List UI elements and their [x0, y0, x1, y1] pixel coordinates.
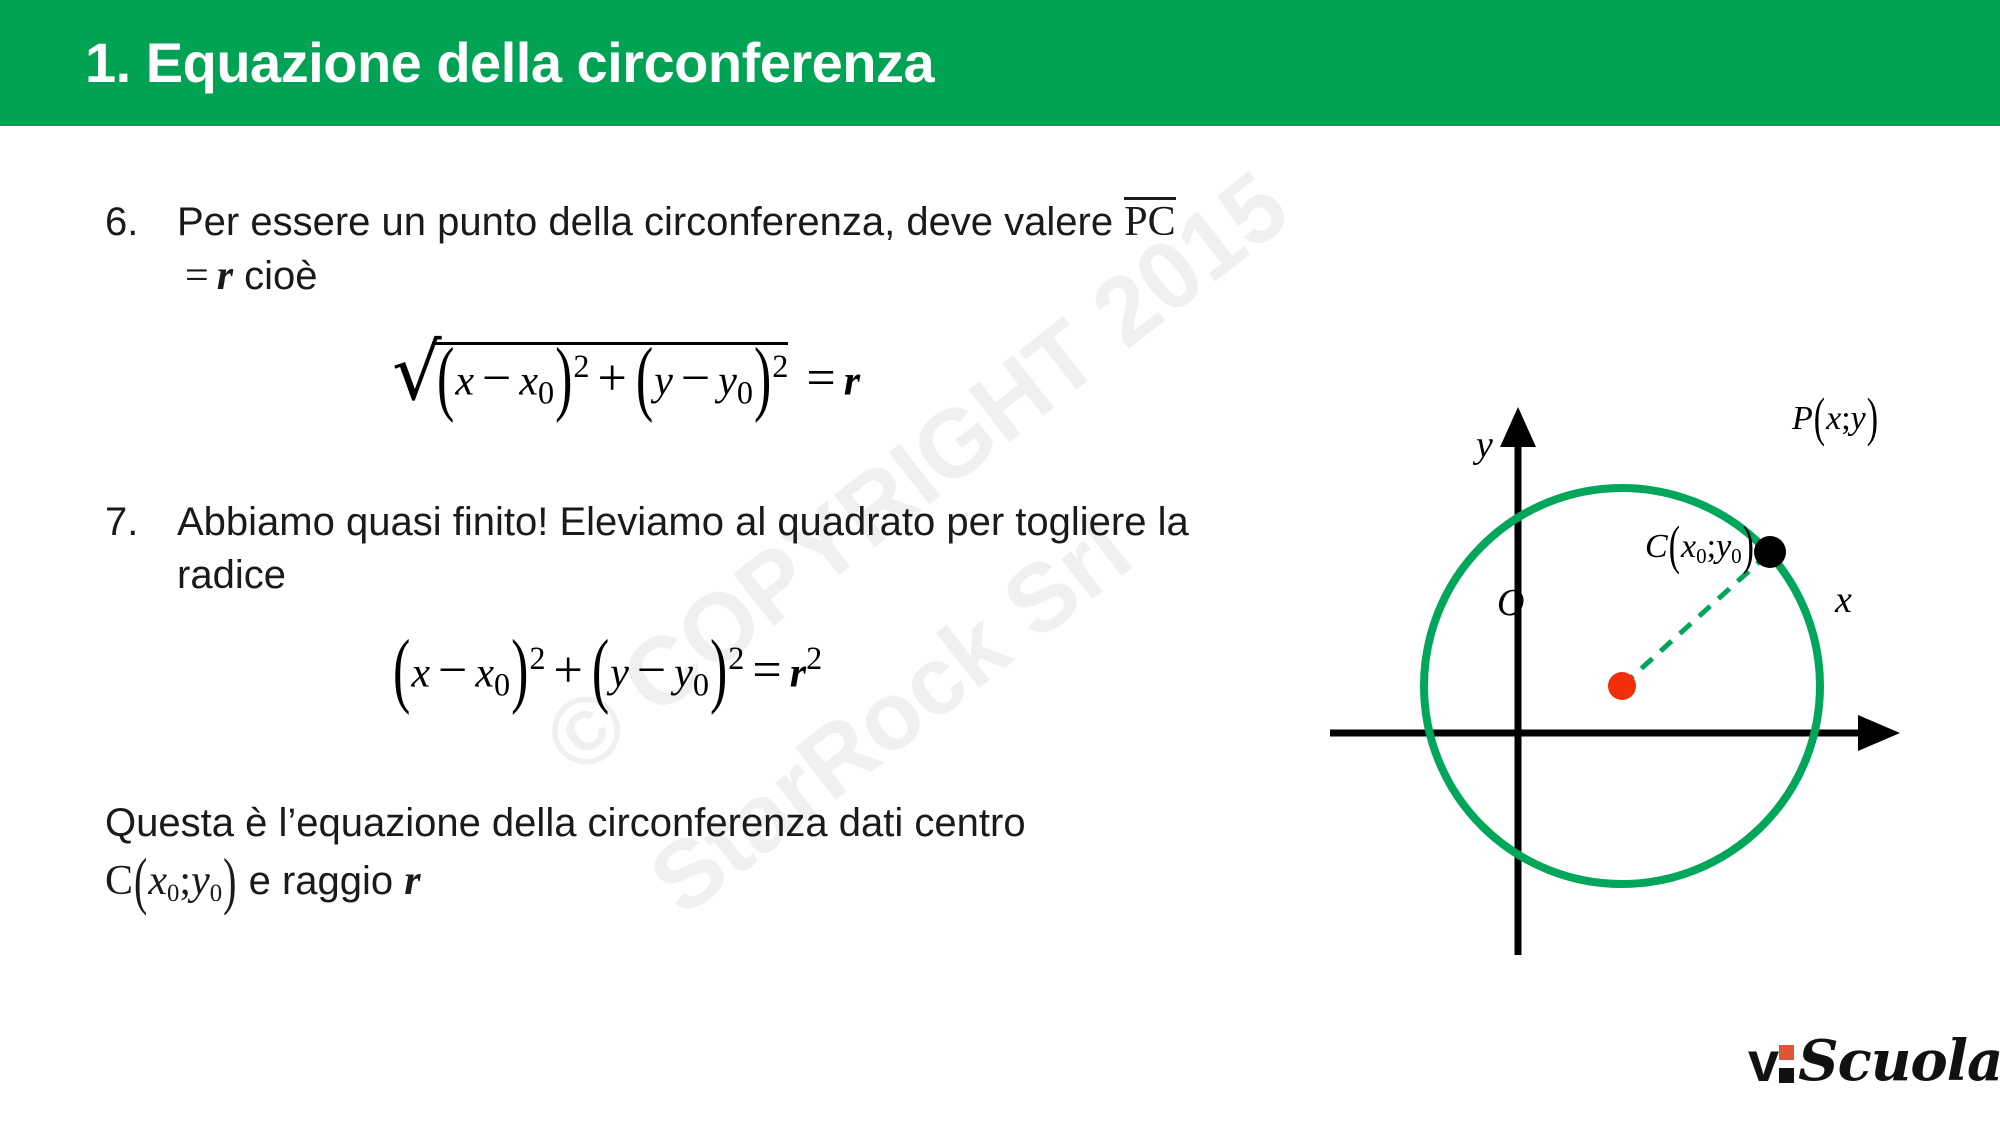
f2-minus: −	[430, 642, 475, 699]
closing-close-paren: )	[223, 838, 236, 923]
square-root: √ (x−x0)2+(y−y0)2	[392, 340, 788, 412]
f1-x0-sub: 0	[538, 375, 554, 411]
closing-line-2: C(x0;y0) e raggio r	[105, 854, 1305, 911]
f1-exp-2: 2	[772, 348, 788, 384]
radius-symbol: r	[217, 253, 233, 299]
logo-wordmark: Scuola	[1798, 1028, 2000, 1094]
f1-y0-sub: 0	[737, 375, 753, 411]
f1-minus-2: −	[673, 350, 718, 407]
slide: 1. Equazione della circonferenza © COPYR…	[0, 0, 2000, 1125]
f2-r: r	[790, 651, 806, 697]
list-item-6-number: 6.	[105, 196, 177, 305]
closing-center-label: C	[105, 858, 133, 904]
logo-colon-top-square	[1779, 1045, 1794, 1060]
formula-circle-equation: (x−x0)2+(y−y0)2=r2	[392, 640, 822, 704]
f2-r-exp: 2	[806, 640, 822, 676]
list-item-6: 6. Per essere un punto della circonferen…	[105, 196, 1185, 305]
list-item-6-text-part2: cioè	[233, 254, 318, 298]
y-axis-label: y	[1476, 423, 1493, 467]
y-axis-arrowhead-icon	[1500, 407, 1536, 447]
logo-v-mark: v	[1748, 1029, 1777, 1094]
f1-plus: +	[590, 350, 635, 407]
f2-x0-sub: 0	[494, 667, 510, 703]
page-title: 1. Equazione della circonferenza	[85, 30, 934, 95]
closing-radius-symbol: r	[404, 858, 420, 904]
origin-label: O	[1497, 581, 1524, 625]
list-item-7: 7. Abbiamo quasi finito! Eleviamo al qua…	[105, 496, 1245, 602]
f2-y0-sub: 0	[693, 667, 709, 703]
closing-center-x-sub: 0	[167, 880, 179, 907]
closing-center-x: x	[148, 858, 167, 904]
f2-y: y	[610, 651, 629, 697]
closing-paragraph: Questa è l’equazione della circonferenza…	[105, 797, 1305, 911]
closing-open-paren: (	[134, 838, 147, 923]
list-item-6-text: Per essere un punto della circonferenza,…	[177, 196, 1185, 305]
open-paren-2: (	[636, 331, 653, 425]
formula-distance-equals-r: √ (x−x0)2+(y−y0)2 =r	[392, 340, 860, 412]
segment-pc: PC	[1124, 197, 1175, 243]
f1-y: y	[654, 359, 673, 405]
f2-plus: +	[546, 642, 591, 699]
open-paren: (	[437, 331, 454, 425]
logo-colon-bottom-square	[1779, 1068, 1794, 1083]
list-item-7-text: Abbiamo quasi finito! Eleviamo al quadra…	[177, 496, 1245, 602]
f2-y0: y	[674, 651, 693, 697]
closing-center-y-sub: 0	[210, 880, 222, 907]
f1-r: r	[844, 359, 860, 405]
x-axis-arrowhead-icon	[1858, 715, 1900, 751]
x-axis-label: x	[1835, 578, 1852, 622]
logo-colon-icon	[1779, 1039, 1794, 1083]
equals-sign: =	[177, 253, 217, 299]
vinculum	[432, 342, 788, 345]
f2-x0: x	[475, 651, 494, 697]
closing-tail: e raggio	[237, 859, 404, 903]
closing-line-1: Questa è l’equazione della circonferenza…	[105, 797, 1305, 850]
list-item-6-text-part1: Per essere un punto della circonferenza,…	[177, 200, 1124, 244]
list-item-7-number: 7.	[105, 496, 177, 602]
closing-separator: ;	[179, 858, 191, 904]
f2-equals: =	[744, 642, 789, 699]
diagram-svg	[1330, 395, 1990, 955]
center-point-dot	[1608, 672, 1636, 700]
radical-sign-icon: √	[392, 334, 442, 412]
close-paren-2: )	[754, 331, 771, 425]
point-p-label: P(x;y)	[1792, 400, 1879, 438]
close-paren: )	[555, 331, 572, 425]
f1-minus: −	[474, 350, 519, 407]
f2-x: x	[411, 651, 430, 697]
f2-exp-1: 2	[529, 640, 545, 676]
radicand: (x−x0)2+(y−y0)2	[436, 340, 788, 412]
point-c-label: C(x0;y0)	[1645, 528, 1755, 569]
f1-y0: y	[718, 359, 737, 405]
closing-center-y: y	[191, 858, 210, 904]
f1-x: x	[455, 359, 474, 405]
f2-minus-2: −	[629, 642, 674, 699]
f2-open-paren: (	[393, 623, 410, 717]
f2-close-paren: )	[511, 623, 528, 717]
f2-exp-2: 2	[728, 640, 744, 676]
f1-x0: x	[519, 359, 538, 405]
f1-exp-1: 2	[573, 348, 589, 384]
circle-diagram: y x O P(x;y) C(x0;y0)	[1330, 395, 1990, 955]
f1-equals: =	[788, 350, 843, 407]
f2-close-paren-2: )	[710, 623, 727, 717]
f2-open-paren-2: (	[592, 623, 609, 717]
brand-logo[interactable]: v Scuola	[1748, 1018, 2000, 1104]
point-p-dot	[1754, 536, 1786, 568]
